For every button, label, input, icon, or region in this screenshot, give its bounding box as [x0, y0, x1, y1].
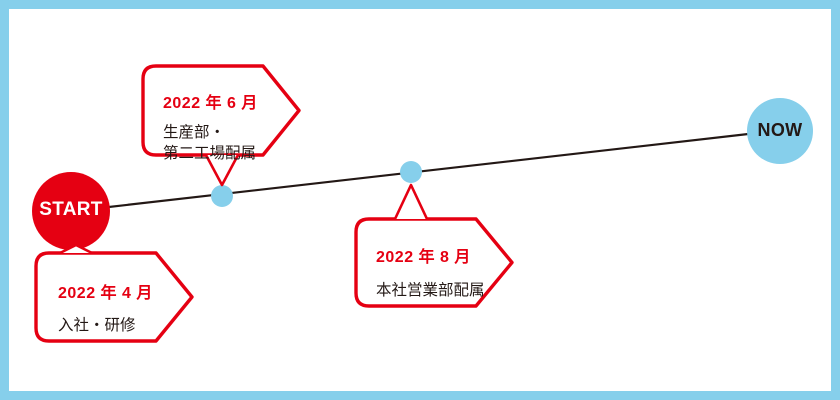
callout-august-tail-fill: [395, 185, 427, 219]
callout-august[interactable]: [356, 185, 512, 306]
milestone-dot-1[interactable]: [211, 185, 233, 207]
callout-april-box: [36, 253, 192, 341]
callout-june-tail-fill: [206, 155, 238, 185]
callout-august-box: [356, 219, 512, 306]
timeline-canvas: [0, 0, 840, 400]
start-node-circle[interactable]: [32, 172, 110, 250]
milestone-dot-2[interactable]: [400, 161, 422, 183]
timeline-diagram: START NOW 2022 年 4 月 入社・研修 2022 年 6 月 生産…: [0, 0, 840, 400]
callout-june[interactable]: [143, 66, 299, 185]
callout-june-box: [143, 66, 299, 155]
callout-april[interactable]: [36, 245, 192, 341]
now-node-circle[interactable]: [747, 98, 813, 164]
